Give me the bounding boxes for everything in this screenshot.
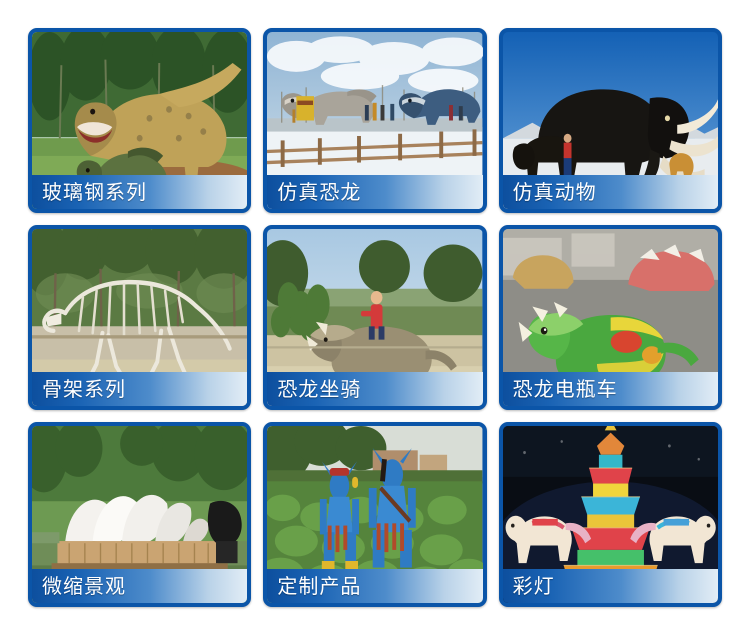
category-label: 微缩景观	[32, 576, 126, 596]
category-caption: 恐龙电瓶车	[503, 372, 718, 406]
category-caption: 彩灯	[503, 569, 718, 603]
category-label: 彩灯	[503, 576, 555, 596]
category-caption: 仿真动物	[503, 175, 718, 209]
category-card[interactable]: 骨架系列	[28, 225, 251, 410]
category-label: 恐龙坐骑	[267, 379, 361, 399]
product-category-gallery: 玻璃钢系列	[0, 0, 750, 633]
category-card[interactable]: 仿真恐龙	[263, 28, 486, 213]
category-caption: 仿真恐龙	[267, 175, 482, 209]
category-card[interactable]: 彩灯	[499, 422, 722, 607]
category-label: 恐龙电瓶车	[503, 379, 618, 399]
category-label: 仿真动物	[503, 182, 597, 202]
category-card[interactable]: 微缩景观	[28, 422, 251, 607]
category-caption: 微缩景观	[32, 569, 247, 603]
category-card[interactable]: 恐龙坐骑	[263, 225, 486, 410]
category-label: 仿真恐龙	[267, 182, 361, 202]
category-card[interactable]: 定制产品	[263, 422, 486, 607]
category-caption: 玻璃钢系列	[32, 175, 247, 209]
category-card[interactable]: 仿真动物	[499, 28, 722, 213]
category-label: 玻璃钢系列	[32, 182, 147, 202]
category-caption: 骨架系列	[32, 372, 247, 406]
category-card[interactable]: 恐龙电瓶车	[499, 225, 722, 410]
category-caption: 定制产品	[267, 569, 482, 603]
category-card[interactable]: 玻璃钢系列	[28, 28, 251, 213]
category-caption: 恐龙坐骑	[267, 372, 482, 406]
category-label: 骨架系列	[32, 379, 126, 399]
category-label: 定制产品	[267, 576, 361, 596]
